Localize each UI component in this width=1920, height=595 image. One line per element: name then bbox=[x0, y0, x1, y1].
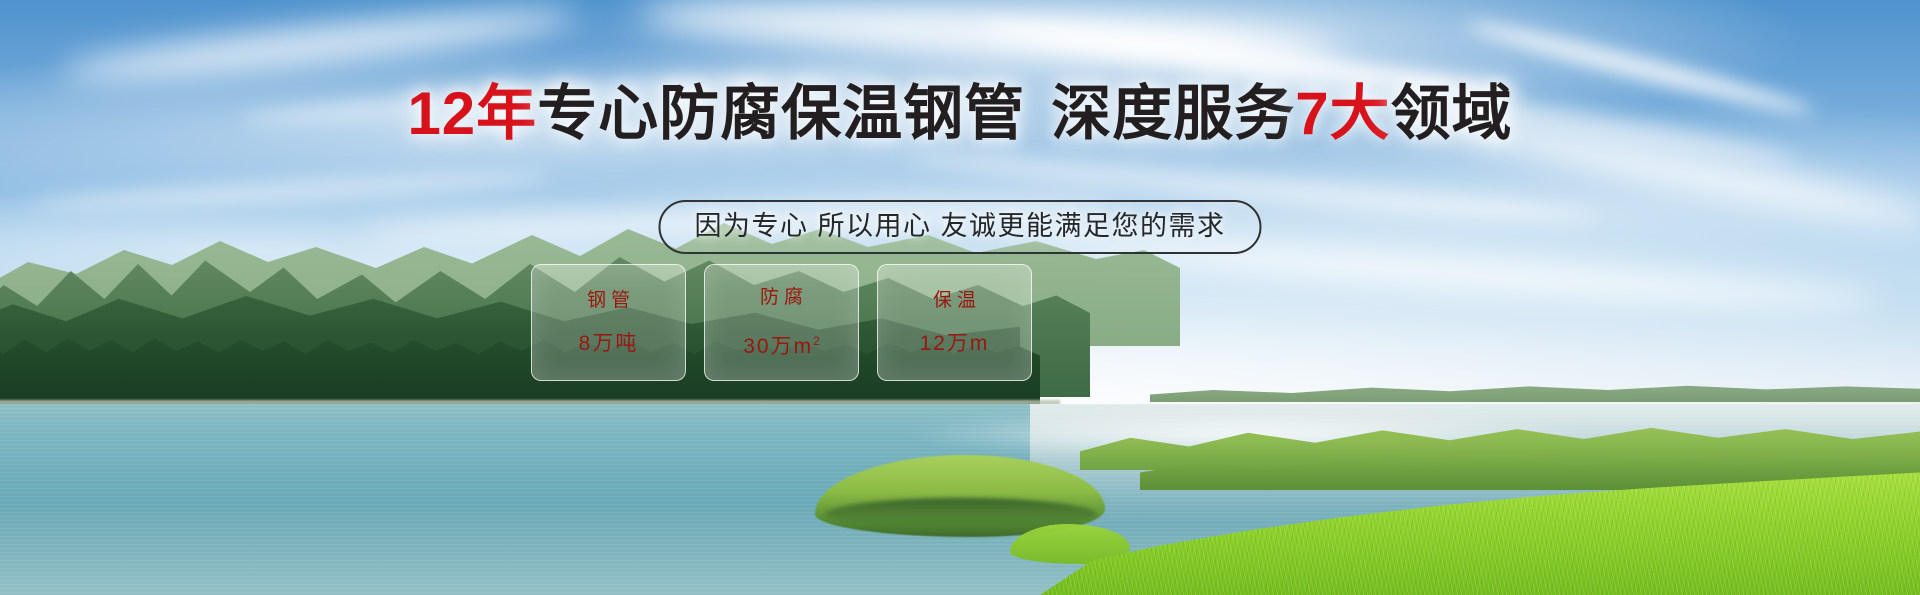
stat-card-value: 12万m bbox=[920, 332, 990, 356]
headline-main: 专心防腐保温钢管 bbox=[537, 80, 1025, 147]
stat-card-value: 8万吨 bbox=[579, 332, 639, 356]
stat-card-label: 保温 bbox=[928, 290, 981, 312]
headline-fields: 领域 bbox=[1391, 80, 1513, 147]
stat-card-label: 防腐 bbox=[755, 287, 808, 309]
stat-card-value: 30万m2 bbox=[743, 329, 820, 359]
headline: 12年专心防腐保温钢管深度服务7大领域 bbox=[0, 82, 1920, 146]
banner-content: 12年专心防腐保温钢管深度服务7大领域 因为专心 所以用心 友诚更能满足您的需求… bbox=[0, 0, 1920, 595]
stat-card-value-superscript: 2 bbox=[813, 334, 820, 348]
stat-card-insulation[interactable]: 保温 12万m bbox=[877, 264, 1032, 381]
headline-service: 深度服务 bbox=[1051, 80, 1295, 147]
promo-banner: 12年专心防腐保温钢管深度服务7大领域 因为专心 所以用心 友诚更能满足您的需求… bbox=[0, 0, 1920, 595]
stat-card-value-text: 8万吨 bbox=[579, 332, 639, 355]
stat-card-value-text: 12万m bbox=[920, 332, 990, 355]
stat-card-anticorrosion[interactable]: 防腐 30万m2 bbox=[704, 264, 859, 381]
stat-card-label: 钢管 bbox=[582, 290, 635, 312]
subtitle-pill: 因为专心 所以用心 友诚更能满足您的需求 bbox=[658, 200, 1261, 254]
subtitle-text: 因为专心 所以用心 友诚更能满足您的需求 bbox=[694, 209, 1225, 243]
stat-card-value-text: 30万m bbox=[743, 335, 813, 358]
headline-count: 7大 bbox=[1295, 80, 1390, 147]
stat-card-group: 钢管 8万吨 防腐 30万m2 保温 12万m bbox=[531, 264, 1032, 381]
headline-years: 12年 bbox=[407, 80, 537, 147]
stat-card-steel-pipe[interactable]: 钢管 8万吨 bbox=[531, 264, 686, 381]
